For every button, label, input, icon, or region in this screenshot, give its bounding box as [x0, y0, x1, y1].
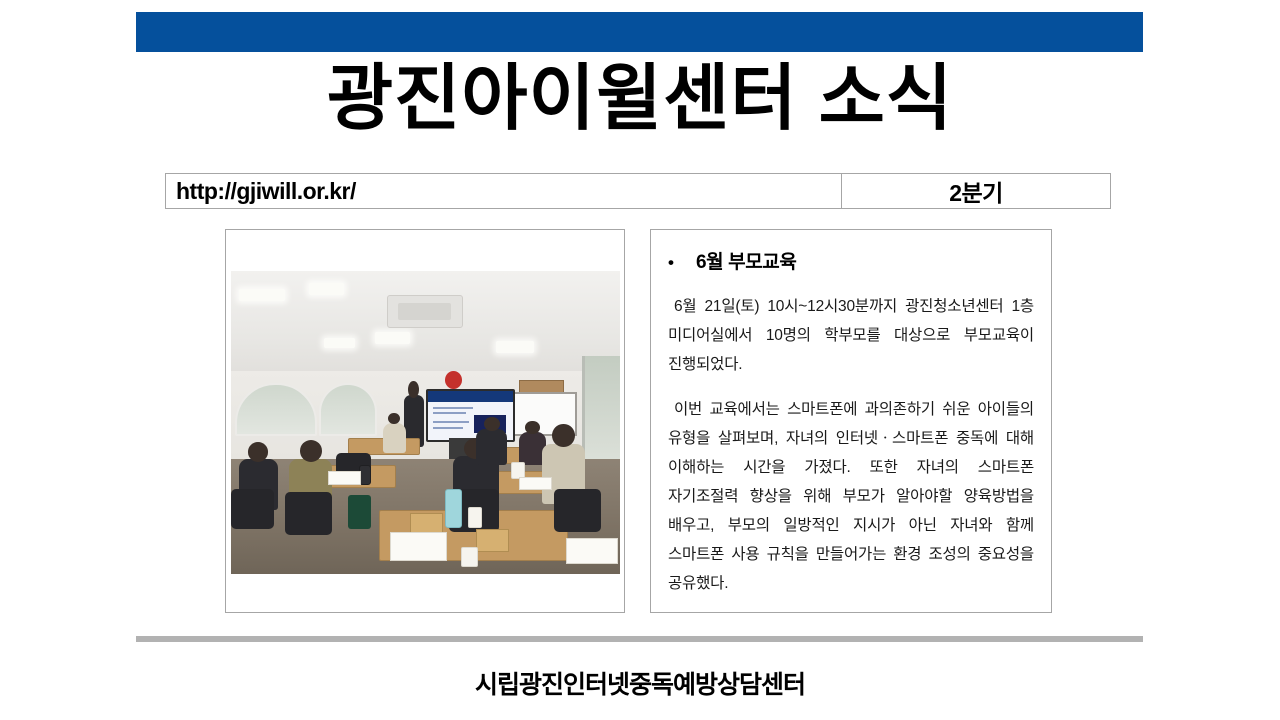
photo-ceiling-light: [239, 289, 286, 301]
photo-window: [319, 383, 377, 435]
photo-water-bottle: [445, 489, 463, 527]
newsletter-page: 광진아이윌센터 소식 http://gjiwill.or.kr/ 2분기: [0, 0, 1280, 720]
photo-screen-text-line: [433, 407, 472, 409]
article-heading: • 6월 부모교육: [668, 252, 1034, 274]
photo-handout: [390, 532, 446, 561]
article-panel: • 6월 부모교육 6월 21일(토) 10시~12시30분까지 광진청소년센터…: [650, 229, 1052, 613]
photo-screen-text-line: [433, 427, 462, 429]
photo-ceiling-light: [324, 338, 355, 349]
header-accent-bar: [136, 12, 1143, 52]
photo-ceiling-light: [496, 341, 535, 353]
photo-air-conditioner: [387, 295, 463, 327]
footer-organization: 시립광진인터넷중독예방상담센터: [0, 665, 1280, 701]
website-url[interactable]: http://gjiwill.or.kr/: [166, 174, 841, 208]
photo-paper-cup: [461, 547, 479, 567]
photo-ceiling-light: [309, 283, 344, 295]
quarter-label: 2분기: [842, 174, 1110, 208]
footer-divider: [136, 636, 1143, 642]
photo-handout: [519, 477, 552, 490]
photo-screen-text-line: [433, 421, 469, 423]
photo-panel: [225, 229, 625, 613]
photo-paper-cup: [468, 507, 482, 527]
photo-ceiling-light: [375, 332, 410, 344]
article-paragraph: 6월 21일(토) 10시~12시30분까지 광진청소년센터 1층 미디어실에서…: [668, 292, 1034, 379]
photo-basket: [476, 529, 509, 552]
photo-handout: [566, 538, 619, 564]
page-title: 광진아이윌센터 소식: [0, 56, 1280, 142]
info-row: http://gjiwill.or.kr/ 2분기: [165, 173, 1111, 209]
article-paragraph: 이번 교육에서는 스마트폰에 과의존하기 쉬운 아이들의 유형을 살펴보며, 자…: [668, 395, 1034, 598]
event-photo: [231, 271, 620, 574]
photo-attendee: [383, 423, 406, 453]
photo-chair: [285, 492, 332, 534]
photo-screen-title-band: [428, 391, 514, 402]
photo-chair: [231, 489, 274, 528]
article-heading-text: 6월 부모교육: [684, 252, 796, 274]
photo-handout: [328, 471, 361, 485]
bullet-icon: •: [668, 252, 684, 274]
photo-attendee: [476, 429, 507, 465]
photo-chair: [554, 489, 601, 531]
photo-screen-text-line: [433, 412, 466, 414]
photo-tote-bag: [348, 495, 371, 528]
